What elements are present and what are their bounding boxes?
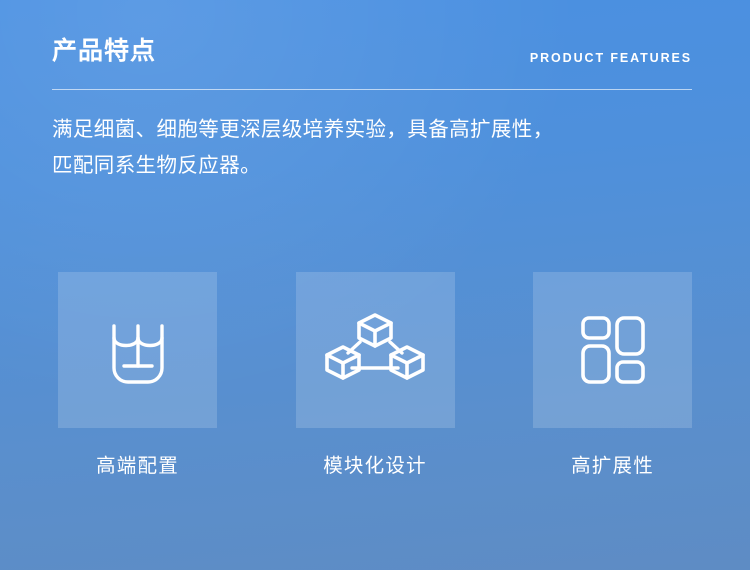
feature-caption-list: 高端配置 模块化设计 高扩展性 [58,452,692,484]
feature-card-modular-design[interactable] [296,272,455,428]
feature-card-high-end-configuration[interactable] [58,272,217,428]
bioreactor-vessel-icon [106,312,170,388]
feature-caption-high-end-configuration: 高端配置 [58,452,217,484]
section-header: 产品特点 PRODUCT FEATURES [52,34,692,86]
feature-card-high-scalability[interactable] [533,272,692,428]
module-grid-icon [580,315,646,385]
intro-line-1: 满足细菌、细胞等更深层级培养实验，具备高扩展性， [52,112,700,148]
product-features-slide: 产品特点 PRODUCT FEATURES 满足细菌、细胞等更深层级培养实验，具… [0,0,750,570]
connected-cubes-icon [324,311,426,389]
intro-paragraph: 满足细菌、细胞等更深层级培养实验，具备高扩展性， 匹配同系生物反应器。 [52,112,700,184]
page-title-english: PRODUCT FEATURES [530,50,692,66]
intro-line-2: 匹配同系生物反应器。 [52,148,700,184]
feature-caption-modular-design: 模块化设计 [296,452,455,484]
feature-card-list [58,272,692,428]
header-divider [52,89,692,90]
page-title: 产品特点 [52,34,156,68]
feature-caption-high-scalability: 高扩展性 [533,452,692,484]
